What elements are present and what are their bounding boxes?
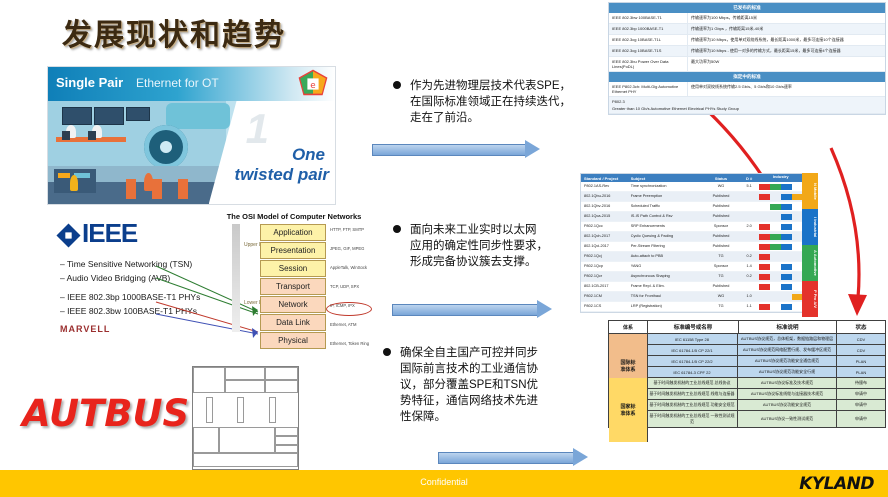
header-dnum: D # — [740, 174, 759, 182]
bullet-dot-icon — [393, 81, 401, 89]
cell-standard-name: P802.3 — [609, 97, 885, 106]
cell-industry-i — [781, 282, 792, 291]
cell-industry-p — [759, 252, 770, 261]
cell-industry-i — [781, 262, 792, 271]
table-row: IEEE 802.3bp 1000BASE-T1 传输速率为1 Gbps ，传输… — [609, 24, 885, 35]
table-row: P802.1QccSRP EnhancementsSponsor2.0 — [581, 222, 803, 232]
cell-standard-code: 基于时间触发机制的工业总线规范 总线协议 — [647, 378, 738, 388]
cell-standard-code: 基于时间触发机制的工业总线规范 线缆与连接器 — [647, 389, 738, 399]
osi-layer-column: Application Presentation Session Transpo… — [260, 224, 326, 350]
cell-industry-a — [770, 212, 781, 221]
osi-layer-physical: Physical — [260, 332, 326, 349]
cell-industry-i — [781, 232, 792, 241]
osi-title: The OSI Model of Computer Networks — [218, 212, 370, 221]
table-row: IEEE 802.3cg 10BASE-T1L 传输速率为10 Mbps，使用单… — [609, 35, 885, 46]
header-code: 标准编号或名称 — [648, 321, 739, 333]
table-row: 国家标准体系基于时间触发机制的工业总线规范 总线协议AUTBUS协议标准及技术规… — [647, 378, 885, 389]
table-row: P802.1QcjAuto-attach to PBBTG0.2 — [581, 252, 803, 262]
cell-standard-desc: AUTBUS协议规范网络配置行规、发布缓冲区规范 — [738, 345, 837, 355]
cell-subject: Time synchronization — [628, 182, 703, 191]
cell-status: TG — [702, 272, 739, 281]
cell-standard-desc: 传输速率为100 Mbps，传输距离15米 — [688, 13, 885, 23]
cell-industry-i — [781, 292, 792, 301]
cell-standard: 802.1Qca-2015 — [581, 212, 628, 221]
table-row: 802.1Qca-2015IS-IS Path Control & RsvPub… — [581, 212, 803, 222]
bullet-autbus-line-5: 性保障。 — [400, 409, 600, 425]
cell-status: Sponsor — [702, 262, 739, 271]
cell-standard-desc: AUTBUS协议规范功能安全行规 — [738, 367, 837, 377]
autbus-architecture-diagram — [192, 366, 299, 470]
bullet-tsn: 面向未来工业实时以太网 应用的确定性同步性要求， 形成完备协议簇去支撑。 — [410, 222, 590, 270]
cell-standard-desc: 使用单对双绞线系统传输2.5 Gb/s、5 Gb/s和10 Gb/s速率 — [688, 82, 885, 96]
table-row: P802.3 Greater than 10 Gb/s Automotive E… — [609, 97, 885, 114]
table-row: 802.1Qch-2017Cyclic Queuing & FwdingPubl… — [581, 232, 803, 242]
header-status: 状态 — [837, 321, 885, 333]
table-row: IEEE 802.3bw 100BASE-T1 传输速率为100 Mbps，传输… — [609, 13, 885, 24]
cell-industry-a — [770, 302, 781, 311]
cell-industry-p — [759, 202, 770, 211]
cell-standard-desc: 传输速率为1 Gbps ，传输距离15米-40米 — [688, 24, 885, 34]
spe-headline-bold: Single Pair — [56, 75, 123, 90]
table-row: IEEE 802.3bu Power Over Data Lines(PoDL)… — [609, 57, 885, 72]
cell-standard-desc: 最大功率为50W — [688, 57, 885, 71]
cell-subject: SRP Enhancements — [628, 222, 703, 231]
svg-text:e: e — [310, 81, 315, 91]
cell-standard-name: IEEE P802.3ch: Multi-Gig Automotive Ethe… — [609, 82, 688, 96]
table-header-row: Standard / Project Subject Status D # In… — [581, 174, 803, 182]
legend-iindustrial: I Industrial — [802, 209, 818, 245]
bullet-dot-icon — [383, 348, 391, 356]
cell-standard: P802.1CS — [581, 302, 628, 311]
cell-status: 申请中 — [837, 411, 885, 427]
industry-legend: N MobileI IndustrialA AutomotiveP Pro A/… — [802, 173, 818, 317]
cell-status: Published — [702, 242, 739, 251]
header-status: Status — [702, 174, 739, 182]
table-row: 国际标准体系IEC 61158 Type 28AUTBUS协议规范，总体框架，数… — [647, 334, 885, 345]
blue-arrow-spe — [372, 140, 540, 158]
table-row: IEC 61784-1/5 CP 22/1AUTBUS协议规范网络配置行规、发布… — [647, 345, 885, 356]
cell-subject: Asynchronous Shaping — [628, 272, 703, 281]
cell-subject: Auto-attach to PBB — [628, 252, 703, 261]
legend-aautomotive: A Automotive — [802, 245, 818, 281]
table-tsn-projects: Standard / Project Subject Status D # In… — [580, 173, 804, 313]
cell-system-group: 国家标准体系 — [609, 378, 648, 442]
table-row: 802.1CB-2017Frame Repl. & Elim.Published — [581, 282, 803, 292]
cell-dnum — [740, 232, 759, 241]
cell-status: TG — [702, 302, 739, 311]
cell-dnum: 1.1 — [740, 302, 759, 311]
cell-standard-desc: 传输速率为10 Mbps，使用单对双绞线系统，最长距离1000米，最多可连接10… — [688, 35, 885, 45]
cell-standard-desc: AUTBUS协议标准线缆与连接器技术规范 — [738, 389, 837, 399]
spe-banner-illustration: 1 One twisted pair — [48, 101, 335, 204]
table-row: P802.1AS-RevTime synchronizationWG5.1 — [581, 182, 803, 192]
cell-status: WG — [702, 182, 739, 191]
cell-status: Published — [702, 282, 739, 291]
cell-industry-a — [770, 282, 781, 291]
table-row: 基于时间触发机制的工业总线规范 功能安全规范AUTBUS协议功能安全规范申请中 — [647, 400, 885, 411]
cell-subject: Frame Repl. & Elim. — [628, 282, 703, 291]
cell-industry-i — [781, 202, 792, 211]
bullet-spe-line-2: 在国际标准领域正在持续迭代， — [410, 94, 590, 110]
spe-line-one: One — [292, 145, 325, 165]
cell-standard-name: IEEE 802.3bw 100BASE-T1 — [609, 13, 688, 23]
cell-standard: 802.1Qch-2017 — [581, 232, 628, 241]
table-row: 基于时间触发机制的工业总线规范 线缆与连接器AUTBUS协议标准线缆与连接器技术… — [647, 389, 885, 400]
cell-industry-p — [759, 282, 770, 291]
osi-note-presentation: JPEG, GIF, MPEG — [330, 243, 372, 262]
cell-industry-p — [759, 272, 770, 281]
bullet-tsn-line-1: 面向未来工业实时以太网 — [410, 222, 590, 238]
cell-dnum: 5.1 — [740, 182, 759, 191]
cell-standard-desc: AUTBUS协议规范功能安全通信规范 — [738, 356, 837, 366]
table-header-row: 体系 标准编号或名称 标准说明 状态 — [609, 321, 885, 334]
osi-note-datalink: Ethernet, ATM — [330, 319, 372, 338]
cell-standard-name: IEEE 802.3bu Power Over Data Lines(PoDL) — [609, 57, 688, 71]
table-spe-section-published: 已发布的标准 — [609, 3, 885, 13]
table-spe-section-draft: 拟定中的标准 — [609, 72, 885, 82]
cell-standard-code: IEC 61784-1/5 CP 22/2 — [647, 356, 738, 366]
cell-standard-name: IEEE 802.3cg 10BASE-T1S — [609, 46, 688, 56]
cell-dnum: 2.0 — [740, 222, 759, 231]
osi-layer-datalink: Data Link — [260, 314, 326, 331]
cell-standard-desc: AUTBUS协议功能安全规范 — [738, 400, 837, 410]
cell-standard: P802.1Qcr — [581, 272, 628, 281]
osi-layer-session: Session — [260, 260, 326, 277]
table-row: IEEE 802.3cg 10BASE-T1S 传输速率为10 Mbps - 使… — [609, 46, 885, 57]
cell-dnum: 0.2 — [740, 252, 759, 261]
header-system: 体系 — [609, 321, 648, 333]
cell-industry-a — [770, 252, 781, 261]
cell-standard-code: 基于时间触发机制的工业总线规范 一致性测试规范 — [647, 411, 738, 427]
header-desc: 标准说明 — [739, 321, 837, 333]
cell-standard: P802.1CM — [581, 292, 628, 301]
cell-standard: 802.1Qci-2017 — [581, 242, 628, 251]
spe-brand-icon: e — [297, 68, 329, 100]
table-row: 基于时间触发机制的工业总线规范 一致性测试规范AUTBUS协议一致性测试规范申请… — [647, 411, 885, 427]
cell-standard-code: IEC 61784-1/5 CP 22/1 — [647, 345, 738, 355]
osi-layer-network: Network — [260, 296, 326, 313]
table-tsn-body: P802.1AS-RevTime synchronizationWG5.1802… — [581, 182, 803, 312]
cell-industry-p — [759, 212, 770, 221]
bullet-autbus: 确保全自主国产可控并同步 国际前言技术的工业通信协 议，部分覆盖SPE和TSN优… — [400, 345, 600, 425]
cell-subject: IS-IS Path Control & Rsv — [628, 212, 703, 221]
cell-status: 申请中 — [837, 400, 885, 410]
cell-standard: 802.1CB-2017 — [581, 282, 628, 291]
cell-standard-desc: AUTBUS协议标准及技术规范 — [738, 378, 837, 388]
bullet-autbus-line-3: 议，部分覆盖SPE和TSN优 — [400, 377, 600, 393]
table-row: 802.1Qci-2017Per-Stream FilteringPublish… — [581, 242, 803, 252]
cell-industry-p — [759, 262, 770, 271]
table-row: P802.1QcrAsynchronous ShapingTG0.2 — [581, 272, 803, 282]
cell-industry-p — [759, 192, 770, 201]
table-row: P802.1CMTSN for FronthaulWG1.0 — [581, 292, 803, 302]
table-row: IEC 61784-3 CPF 22AUTBUS协议规范功能安全行规PLAN — [647, 367, 885, 378]
cell-industry-a — [770, 262, 781, 271]
cell-industry-a — [770, 242, 781, 251]
table-row: P802.1CSLRP (Registration)TG1.1 — [581, 302, 803, 312]
osi-grid: Upper Layers Lower Layers Application Pr… — [218, 224, 370, 334]
bullet-autbus-line-1: 确保全自主国产可控并同步 — [400, 345, 600, 361]
cell-standard: P802.1Qcp — [581, 262, 628, 271]
spe-banner-header: Single Pair Ethernet for OT e — [48, 67, 335, 101]
cell-industry-p — [759, 182, 770, 191]
cell-industry-i — [781, 192, 792, 201]
osi-note-session: AppleTalk, WinSock — [330, 262, 372, 281]
cell-standard: 802.1Qbv-2016 — [581, 202, 628, 211]
bullet-autbus-line-4: 势特征，通信网络技术先进 — [400, 393, 600, 409]
cell-status: WG — [702, 292, 739, 301]
spe-big-number: 1 — [246, 105, 269, 153]
slide-root: 发展现状和趋势 Single Pair Ethernet for OT e — [0, 0, 888, 497]
cell-standard: P802.1Qcj — [581, 252, 628, 261]
cell-subject: Cyclic Queuing & Fwding — [628, 232, 703, 241]
osi-layer-presentation: Presentation — [260, 242, 326, 259]
cell-industry-a — [770, 202, 781, 211]
autbus-wordmark: AUTBUS — [22, 392, 189, 435]
cell-industry-p — [759, 302, 770, 311]
bullet-autbus-line-2: 国际前言技术的工业通信协 — [400, 361, 600, 377]
table-row: 802.1Qbv-2016Scheduled TrafficPublished — [581, 202, 803, 212]
cell-status: TG — [702, 252, 739, 261]
cell-dnum — [740, 242, 759, 251]
bullet-spe-line-3: 走在了前沿。 — [410, 110, 590, 126]
cell-status: 申请中 — [837, 389, 885, 399]
cell-status: Published — [702, 192, 739, 201]
cell-industry-i — [781, 302, 792, 311]
cell-standard-code: IEC 61158 Type 28 — [647, 334, 738, 344]
cell-subject: Frame Preemption — [628, 192, 703, 201]
header-standard: Standard / Project — [581, 174, 628, 182]
ieee-diamond-icon — [56, 223, 80, 247]
bullet-spe: 作为先进物理层技术代表SPE， 在国际标准领域正在持续迭代， 走在了前沿。 — [410, 78, 590, 126]
bullet-spe-line-1: 作为先进物理层技术代表SPE， — [410, 78, 590, 94]
cell-status: Published — [702, 212, 739, 221]
cell-industry-a — [770, 292, 781, 301]
spe-headline-rest: Ethernet for OT — [136, 76, 219, 90]
table-row: P802.1QcpYANGSponsor1.4 — [581, 262, 803, 272]
spe-banner-image: Single Pair Ethernet for OT e — [47, 66, 336, 205]
cell-dnum: 1.0 — [740, 292, 759, 301]
cell-standard-desc: 传输速率为10 Mbps - 使用一对多的传输方式，最长距离15米，最多可连接4… — [688, 46, 885, 56]
cell-status: Published — [702, 202, 739, 211]
cell-standard: P802.1AS-Rev — [581, 182, 628, 191]
cell-dnum — [740, 202, 759, 211]
cell-standard-desc: AUTBUS协议规范，总体框架，数据链路层和物理层 — [738, 334, 837, 344]
cell-standard-name: IEEE 802.3bp 1000BASE-T1 — [609, 24, 688, 34]
cell-standard-code: 基于时间触发机制的工业总线规范 功能安全规范 — [647, 400, 738, 410]
cell-subject: Scheduled Traffic — [628, 202, 703, 211]
cell-dnum — [740, 212, 759, 221]
table-spe-standards: 已发布的标准 IEEE 802.3bw 100BASE-T1 传输速率为100 … — [608, 2, 886, 115]
cell-dnum — [740, 192, 759, 201]
cell-status: Sponsor — [702, 222, 739, 231]
cell-subject: Per-Stream Filtering — [628, 242, 703, 251]
kyland-logo: KYLAND — [799, 474, 874, 494]
osi-direction-bar — [232, 224, 240, 332]
cell-status: CDV — [837, 345, 885, 355]
cell-industry-i — [781, 252, 792, 261]
cell-status: 待颁布 — [837, 378, 885, 388]
cell-status: PLAN — [837, 356, 885, 366]
cell-industry-a — [770, 232, 781, 241]
cell-standard: P802.1Qcc — [581, 222, 628, 231]
blue-arrow-autbus — [438, 448, 588, 466]
cell-standard: 802.1Qbu-2016 — [581, 192, 628, 201]
osi-note-transport: TCP, UDP, SPX — [330, 281, 372, 300]
cell-status: Published — [702, 232, 739, 241]
page-title: 发展现状和趋势 — [62, 10, 286, 54]
cell-standard-code: IEC 61784-3 CPF 22 — [647, 367, 738, 377]
spe-line-twisted-pair: twisted pair — [235, 165, 329, 185]
confidential-label: Confidential — [420, 477, 468, 487]
cell-standard-desc: Greater than 10 Gb/s Automotive Ethernet… — [609, 106, 885, 113]
cell-subject: TSN for Fronthaul — [628, 292, 703, 301]
cell-industry-i — [781, 212, 792, 221]
osi-protocol-notes: HTTP, FTP, SMTP JPEG, GIF, MPEG AppleTal… — [330, 224, 372, 357]
cell-industry-i — [781, 272, 792, 281]
cell-dnum — [740, 282, 759, 291]
table-autbus-body: 国际标准体系IEC 61158 Type 28AUTBUS协议规范，总体框架，数… — [609, 334, 885, 427]
cell-industry-i — [781, 182, 792, 191]
cell-status: PLAN — [837, 367, 885, 377]
cell-industry-a — [770, 272, 781, 281]
blue-arrow-tsn — [392, 300, 552, 318]
osi-model-diagram: The OSI Model of Computer Networks Upper… — [218, 212, 370, 340]
cell-industry-a — [770, 222, 781, 231]
cell-industry-p — [759, 232, 770, 241]
osi-highlight-ellipse — [326, 302, 372, 316]
bullet-tsn-line-2: 应用的确定性同步性要求， — [410, 238, 590, 254]
cell-dnum: 1.4 — [740, 262, 759, 271]
table-row: IEC 61784-1/5 CP 22/2AUTBUS协议规范功能安全通信规范P… — [647, 356, 885, 367]
table-autbus-standards: 体系 标准编号或名称 标准说明 状态 国际标准体系IEC 61158 Type … — [608, 320, 886, 428]
ieee-logo-text: IEEE — [82, 218, 137, 248]
table-row: IEEE P802.3ch: Multi-Gig Automotive Ethe… — [609, 82, 885, 97]
bullet-tsn-line-3: 形成完备协议簇去支撑。 — [410, 254, 590, 270]
osi-note-application: HTTP, FTP, SMTP — [330, 224, 372, 243]
osi-note-physical: Ethernet, Token Ring — [330, 338, 372, 357]
cell-subject: LRP (Registration) — [628, 302, 703, 311]
osi-layer-transport: Transport — [260, 278, 326, 295]
cell-industry-a — [770, 192, 781, 201]
cell-subject: YANG — [628, 262, 703, 271]
cell-standard-name: IEEE 802.3cg 10BASE-T1L — [609, 35, 688, 45]
bullet-dot-icon — [393, 225, 401, 233]
cell-industry-i — [781, 222, 792, 231]
osi-layer-application: Application — [260, 224, 326, 241]
cell-industry-i — [781, 242, 792, 251]
legend-pproav: P Pro A/V — [802, 281, 818, 317]
cell-industry-a — [770, 182, 781, 191]
header-subject: Subject — [628, 174, 703, 182]
cell-industry-p — [759, 292, 770, 301]
cell-status: CDV — [837, 334, 885, 344]
cell-industry-p — [759, 222, 770, 231]
cell-industry-p — [759, 242, 770, 251]
cell-dnum: 0.2 — [740, 272, 759, 281]
legend-nmobile: N Mobile — [802, 173, 818, 209]
header-industry: Industry — [759, 174, 803, 182]
cell-standard-desc: AUTBUS协议一致性测试规范 — [738, 411, 837, 427]
footer-bar: Confidential KYLAND — [0, 470, 888, 497]
table-row: 802.1Qbu-2016Frame PreemptionPublished — [581, 192, 803, 202]
